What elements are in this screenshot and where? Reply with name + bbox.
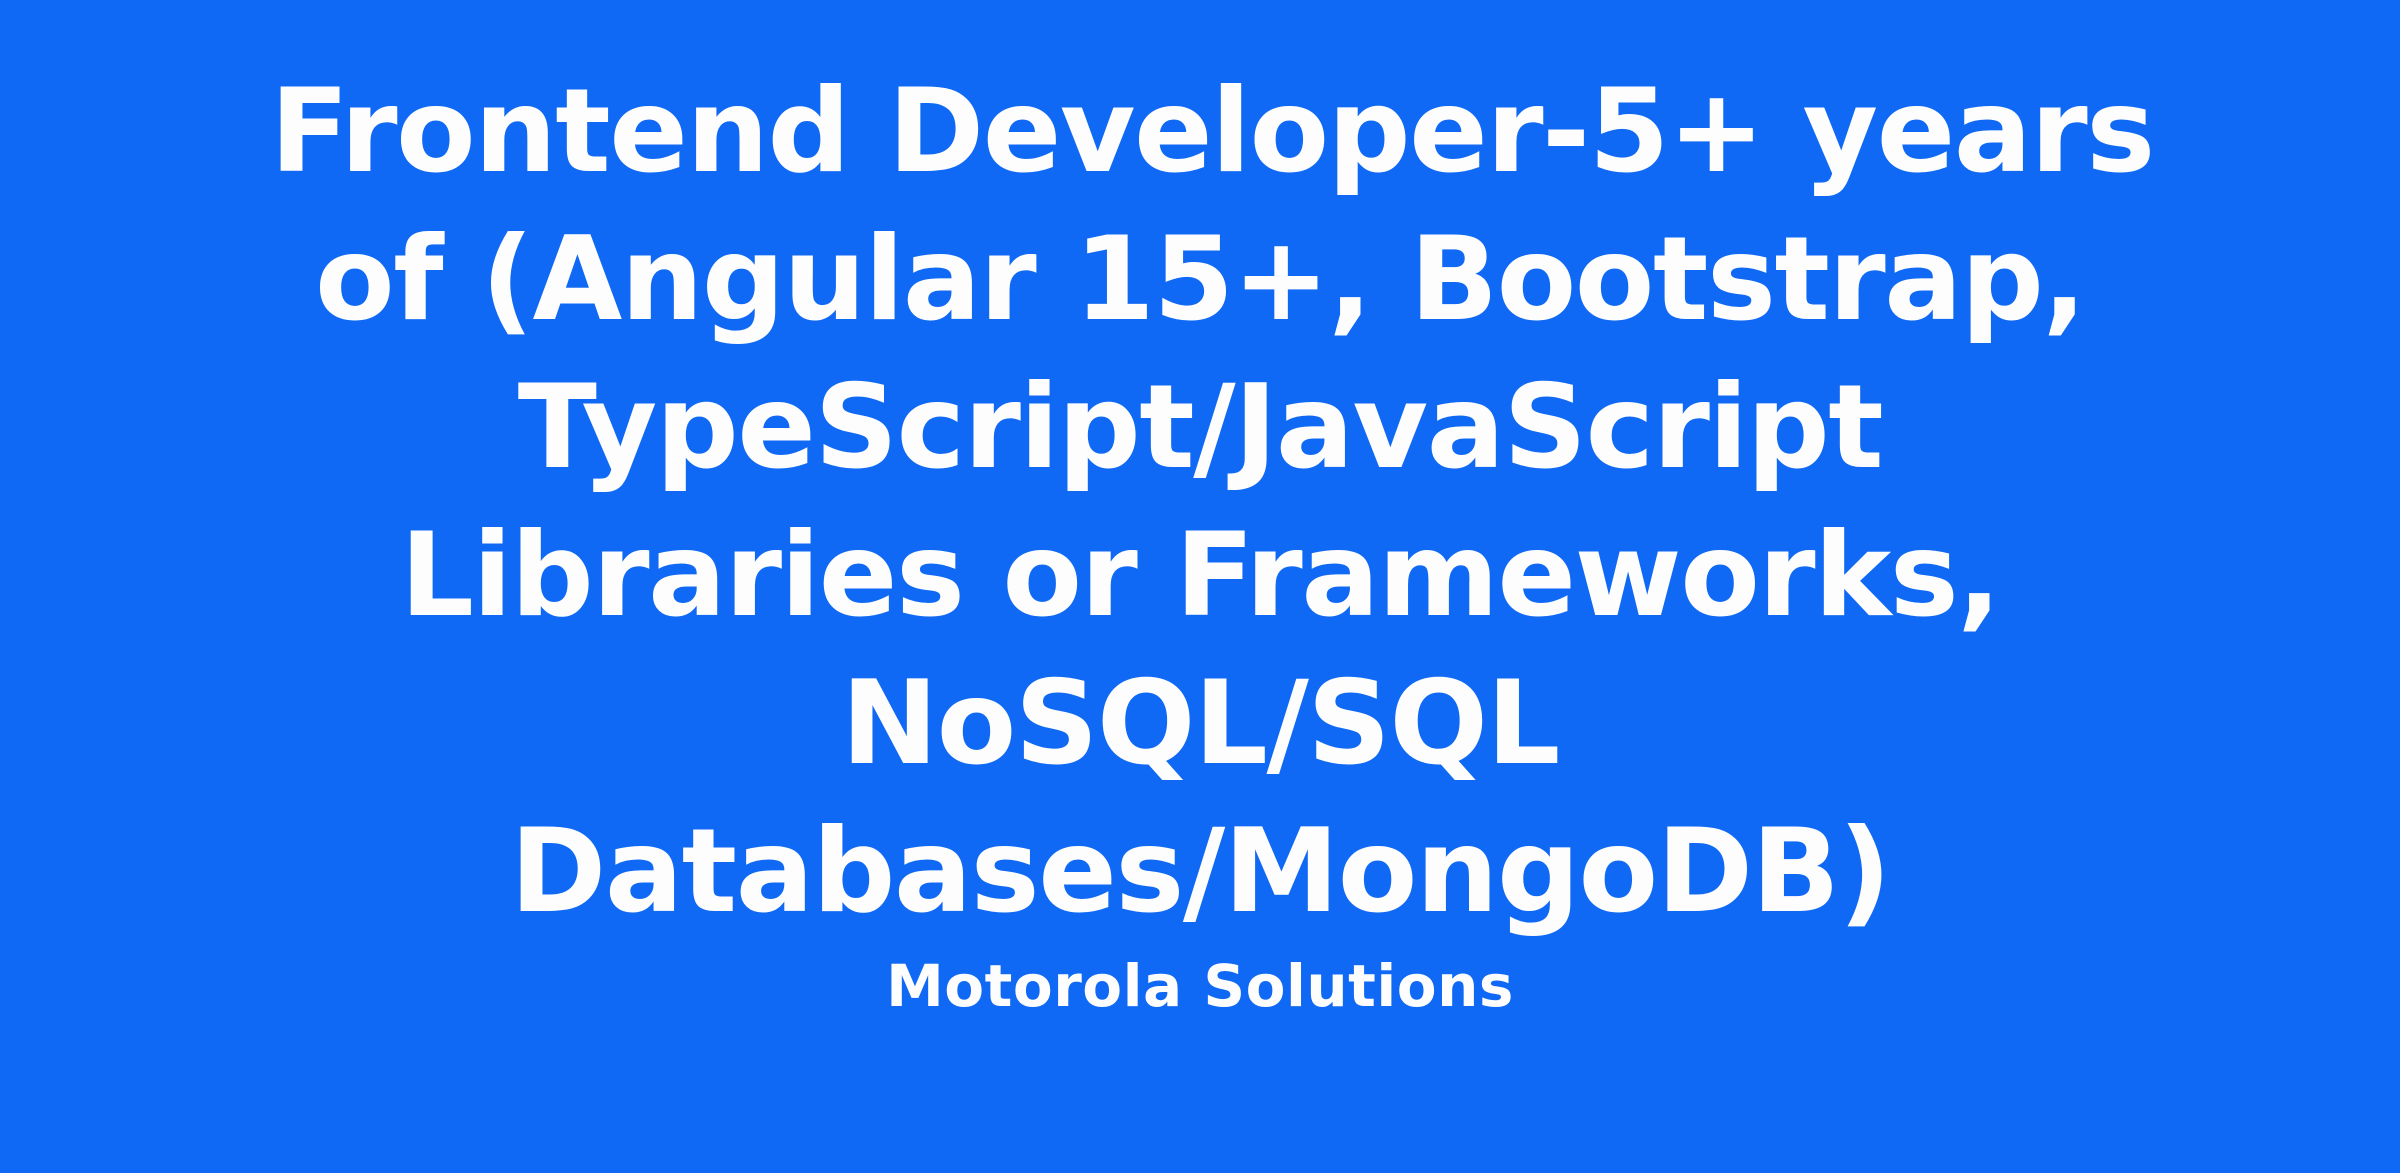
company-name: Motorola Solutions	[886, 950, 1514, 1022]
job-title-line: of (Angular 15+, Bootstrap,	[270, 206, 2130, 354]
job-title: Frontend Developer-5+ years of (Angular …	[270, 58, 2130, 946]
job-title-line: Libraries or Frameworks,	[270, 502, 2130, 650]
job-title-line: Databases/MongoDB)	[270, 798, 2130, 946]
job-title-line: TypeScript/JavaScript	[270, 354, 2130, 502]
job-posting-card: Frontend Developer-5+ years of (Angular …	[0, 0, 2400, 1173]
job-title-line: Frontend Developer-5+ years	[270, 58, 2130, 206]
job-title-line: NoSQL/SQL	[270, 650, 2130, 798]
company-name-container: Motorola Solutions	[270, 950, 2130, 1022]
